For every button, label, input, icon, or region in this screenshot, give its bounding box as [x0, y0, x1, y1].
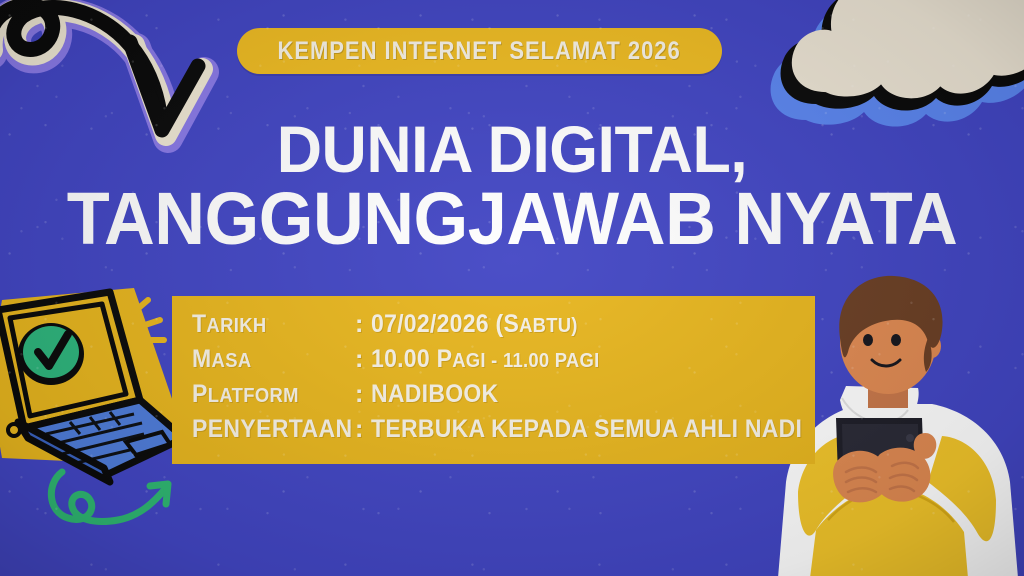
detail-colon: :	[355, 415, 371, 444]
detail-value-penyertaan: TERBUKA KEPADA SEMUA AHLI NADI	[371, 415, 802, 444]
event-details-panel: TARIKH : 07/02/2026 (SABTU) MASA : 10.00…	[172, 296, 815, 464]
detail-label-tarikh: TARIKH	[192, 310, 342, 339]
headline-line-1: DUNIA DIGITAL,	[26, 118, 999, 180]
detail-row-penyertaan: PENYERTAAN : TERBUKA KEPADA SEMUA AHLI N…	[192, 415, 797, 450]
sparkle-icon	[134, 300, 164, 340]
detail-colon: :	[355, 380, 371, 409]
poster-canvas: KEMPEN INTERNET SELAMAT 2026 DUNIA DIGIT…	[0, 0, 1024, 576]
background-vignette	[0, 0, 1024, 576]
detail-value-masa: 10.00 PAGI - 11.00 PAGI	[371, 345, 599, 374]
green-check-icon	[18, 323, 84, 385]
headline-line-2: TANGGUNGJAWAB NYATA	[26, 184, 999, 254]
campaign-badge: KEMPEN INTERNET SELAMAT 2026	[237, 28, 722, 74]
detail-label-platform: PLATFORM	[192, 380, 342, 409]
detail-label-penyertaan: PENYERTAAN	[192, 415, 342, 444]
detail-row-masa: MASA : 10.00 PAGI - 11.00 PAGI	[192, 345, 797, 380]
detail-row-tarikh: TARIKH : 07/02/2026 (SABTU)	[192, 310, 797, 345]
detail-value-platform: NADIBOOK	[371, 380, 498, 409]
page-title: DUNIA DIGITAL, TANGGUNGJAWAB NYATA	[0, 118, 1024, 254]
detail-colon: :	[355, 310, 371, 339]
background-noise-texture	[0, 0, 1024, 576]
detail-colon: :	[355, 345, 371, 374]
detail-row-platform: PLATFORM : NADIBOOK	[192, 380, 797, 415]
smartphone-icon	[836, 418, 924, 476]
detail-label-masa: MASA	[192, 345, 342, 374]
squiggle-arrow-icon	[34, 462, 209, 548]
campaign-badge-label: KEMPEN INTERNET SELAMAT 2026	[278, 37, 681, 66]
detail-value-tarikh: 07/02/2026 (SABTU)	[371, 310, 578, 339]
